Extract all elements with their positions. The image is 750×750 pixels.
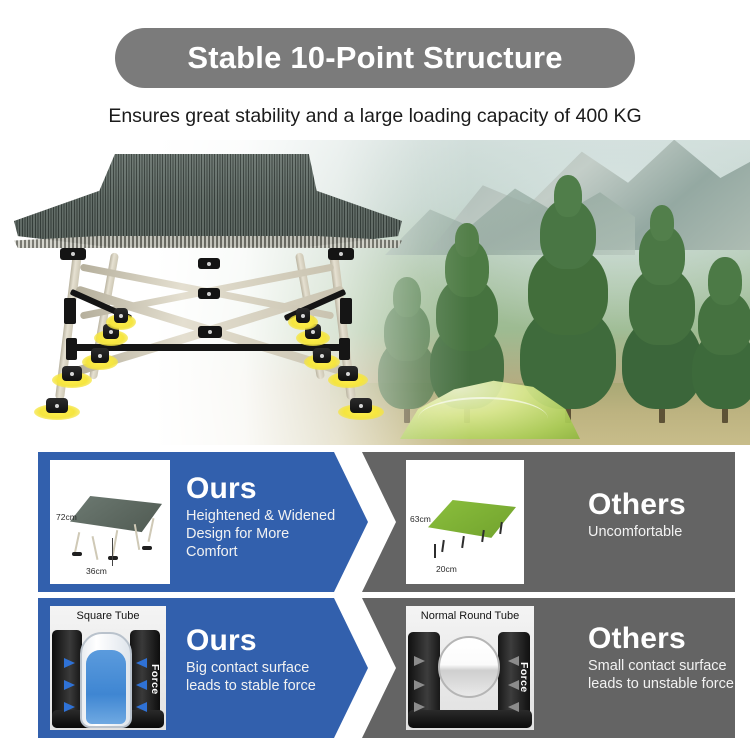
round-tube-icon	[438, 636, 500, 698]
contact-point-foot	[52, 366, 92, 388]
camping-cot-product	[8, 148, 408, 438]
header-section: Stable 10-Point Structure Ensures great …	[0, 0, 750, 140]
force-arrow-left	[64, 658, 75, 668]
dimension-label-height: 20cm	[436, 564, 457, 574]
mini-cot-leg	[441, 540, 445, 552]
ours-body: Big contact surface leads to stable forc…	[186, 659, 346, 696]
contact-point-foot	[106, 308, 136, 324]
ours-comfort-thumbnail: 72cm 36cm	[50, 460, 170, 584]
ours-tube-copy: Ours Big contact surface leads to stable…	[186, 626, 346, 695]
comparison-row-tube: Square Tube Force Normal Round Tube	[0, 598, 750, 738]
dimension-label-width: 63cm	[410, 514, 431, 524]
cot-strap	[339, 338, 350, 360]
others-tube-copy: Others Small contact surface leads to un…	[588, 624, 738, 693]
mini-cot-leg	[92, 536, 99, 560]
others-heading: Others	[588, 490, 738, 521]
mini-cot-foot	[72, 552, 82, 556]
cot-strap	[66, 338, 77, 360]
page-title: Stable 10-Point Structure	[187, 40, 562, 76]
others-comfort-copy: Others Uncomfortable	[588, 490, 738, 541]
pine-tree-icon	[692, 251, 750, 409]
ours-heading: Ours	[186, 626, 346, 657]
ours-body: Heightened & Widened Design for More Com…	[186, 507, 336, 562]
cot-joint	[328, 248, 354, 260]
clamp-body	[408, 710, 532, 728]
mini-cot-leg	[112, 538, 113, 566]
cot-joint	[198, 258, 220, 269]
mini-cot-leg	[74, 532, 81, 554]
dimension-label-height: 36cm	[86, 566, 107, 576]
cot-strap	[64, 298, 76, 324]
tube-type-label: Square Tube	[50, 610, 166, 622]
cot-hem-trim	[14, 236, 402, 248]
ours-tube-thumbnail: Square Tube Force	[50, 606, 166, 730]
dimension-label-width: 72cm	[56, 512, 77, 522]
others-comfort-thumbnail: 63cm 20cm	[406, 460, 524, 584]
cot-joint	[198, 288, 220, 299]
cot-joint	[60, 248, 86, 260]
force-arrow-right	[136, 702, 147, 712]
contact-point-foot	[82, 348, 118, 368]
force-label: Force	[149, 664, 161, 695]
page-subtitle: Ensures great stability and a large load…	[0, 105, 750, 128]
infographic-page: Stable 10-Point Structure Ensures great …	[0, 0, 750, 750]
others-body: Small contact surface leads to unstable …	[588, 657, 738, 694]
cot-strap	[340, 298, 352, 324]
tube-type-label: Normal Round Tube	[406, 610, 534, 622]
square-tube-fill	[86, 650, 126, 724]
comparison-row-comfort: 72cm 36cm 63cm 20cm Ours Heightened & Wi…	[0, 452, 750, 592]
pine-tree-icon	[520, 177, 616, 409]
force-arrow-left	[414, 656, 425, 666]
mini-cot-leg	[434, 544, 436, 558]
pine-tree-icon	[622, 213, 702, 409]
others-body: Uncomfortable	[588, 523, 738, 541]
title-pill: Stable 10-Point Structure	[115, 28, 635, 88]
force-arrow-left	[64, 680, 75, 690]
mini-cot-foot	[108, 556, 118, 560]
contact-point-foot	[338, 398, 384, 422]
force-arrow-right	[136, 658, 147, 668]
force-arrow-left	[414, 702, 425, 712]
mini-cot-leg	[461, 536, 465, 548]
force-arrow-right	[508, 702, 519, 712]
ours-comfort-copy: Ours Heightened & Widened Design for Mor…	[186, 474, 336, 561]
cot-joint	[198, 326, 222, 338]
contact-point-foot	[34, 398, 80, 422]
force-label: Force	[518, 662, 530, 693]
contact-point-foot	[328, 366, 368, 388]
others-tube-thumbnail: Normal Round Tube Force	[406, 606, 534, 730]
others-heading: Others	[588, 624, 738, 655]
mini-cot-leg	[499, 522, 503, 534]
hero-product-photo	[0, 140, 750, 445]
force-arrow-left	[64, 702, 75, 712]
force-arrow-left	[414, 680, 425, 690]
contact-point-foot	[288, 308, 318, 324]
contact-point-foot	[304, 348, 340, 368]
ours-heading: Ours	[186, 474, 336, 505]
mini-cot-foot	[142, 546, 152, 550]
force-arrow-right	[136, 680, 147, 690]
